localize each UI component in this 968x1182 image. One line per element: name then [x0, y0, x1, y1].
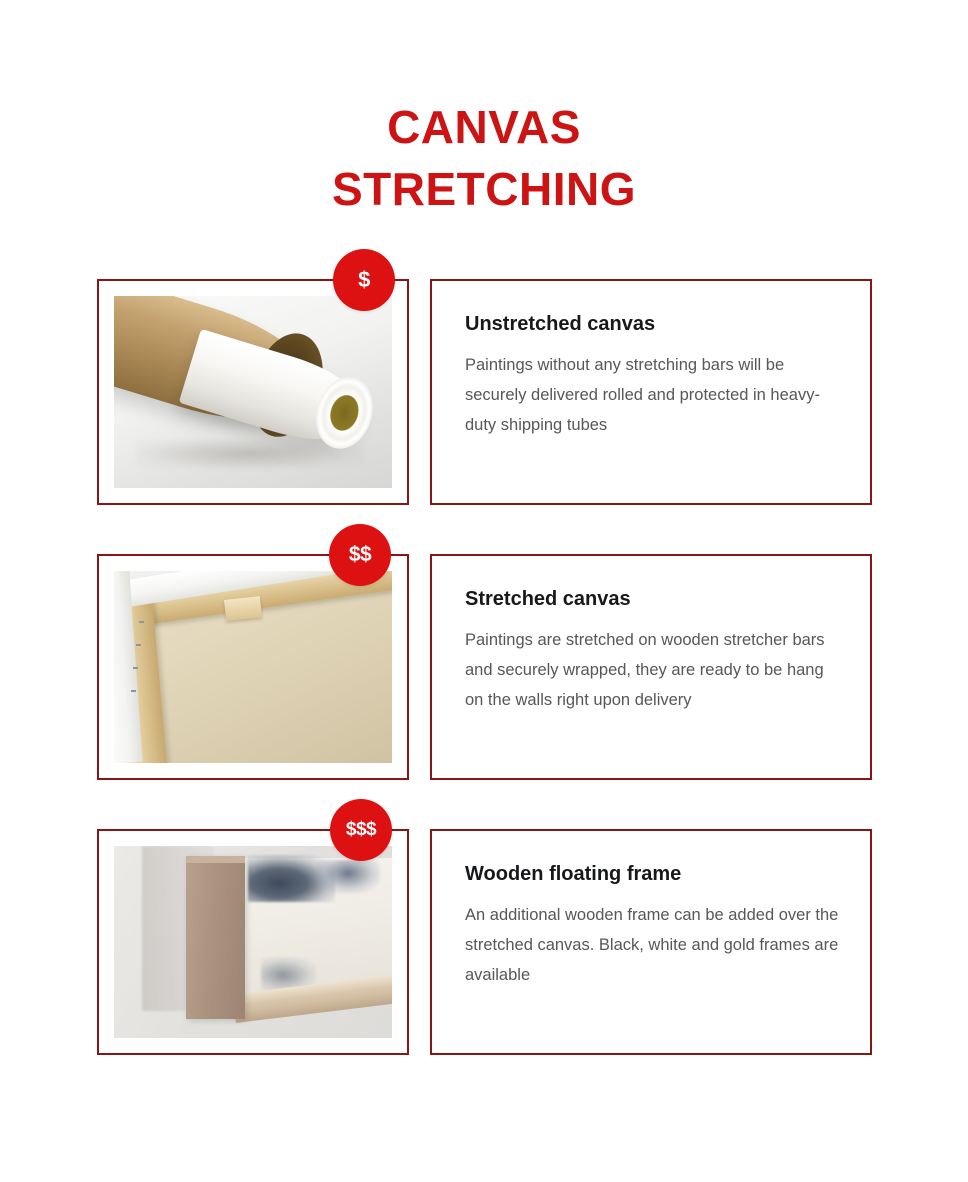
floating-frame-side-top — [186, 856, 244, 864]
wooden-floating-frame-corner-photo — [114, 846, 392, 1038]
option-description: Paintings without any stretching bars wi… — [465, 350, 840, 440]
canvas-stretching-infographic: CANVAS STRETCHING $ Un — [0, 0, 968, 1182]
option-image-card — [97, 554, 409, 780]
floating-frame-side-rail — [186, 856, 244, 1019]
price-badge-three-dollars: $$$ — [330, 799, 392, 861]
price-badge-label: $$ — [349, 543, 371, 567]
price-badge-two-dollars: $$ — [329, 524, 391, 586]
option-image-card — [97, 829, 409, 1055]
option-description: Paintings are stretched on wooden stretc… — [465, 625, 840, 715]
page-title-line-2: STRETCHING — [0, 158, 968, 220]
option-text-card: Unstretched canvas Paintings without any… — [430, 279, 872, 505]
option-text-card: Stretched canvas Paintings are stretched… — [430, 554, 872, 780]
abstract-artwork-surface — [245, 858, 392, 996]
staple-icon — [136, 644, 141, 646]
page-title: CANVAS STRETCHING — [0, 96, 968, 220]
options-list: $ Unstretched canvas Paintings without a… — [0, 279, 968, 1055]
price-badge-one-dollar: $ — [333, 249, 395, 311]
ink-wash-b — [316, 860, 380, 893]
staple-icon — [131, 690, 136, 692]
option-row: $ Unstretched canvas Paintings without a… — [0, 279, 968, 505]
option-image-card — [97, 279, 409, 505]
staple-icon — [139, 621, 144, 623]
staple-icon — [133, 667, 138, 669]
rolled-canvas-in-shipping-tube-photo — [114, 296, 392, 488]
stretched-canvas-wooden-bars-photo — [114, 571, 392, 763]
price-badge-label: $$$ — [346, 819, 376, 841]
page-title-line-1: CANVAS — [0, 96, 968, 158]
option-row: $$$ Wooden floating frame An additional … — [0, 829, 968, 1055]
price-badge-label: $ — [358, 267, 370, 293]
option-row: $$ Stretched canvas Paintings are stretc… — [0, 554, 968, 780]
option-heading: Stretched canvas — [465, 586, 840, 612]
option-text-card: Wooden floating frame An additional wood… — [430, 829, 872, 1055]
option-description: An additional wooden frame can be added … — [465, 900, 840, 990]
option-heading: Unstretched canvas — [465, 311, 840, 337]
option-heading: Wooden floating frame — [465, 861, 840, 887]
stretcher-wedge-icon — [224, 596, 262, 621]
